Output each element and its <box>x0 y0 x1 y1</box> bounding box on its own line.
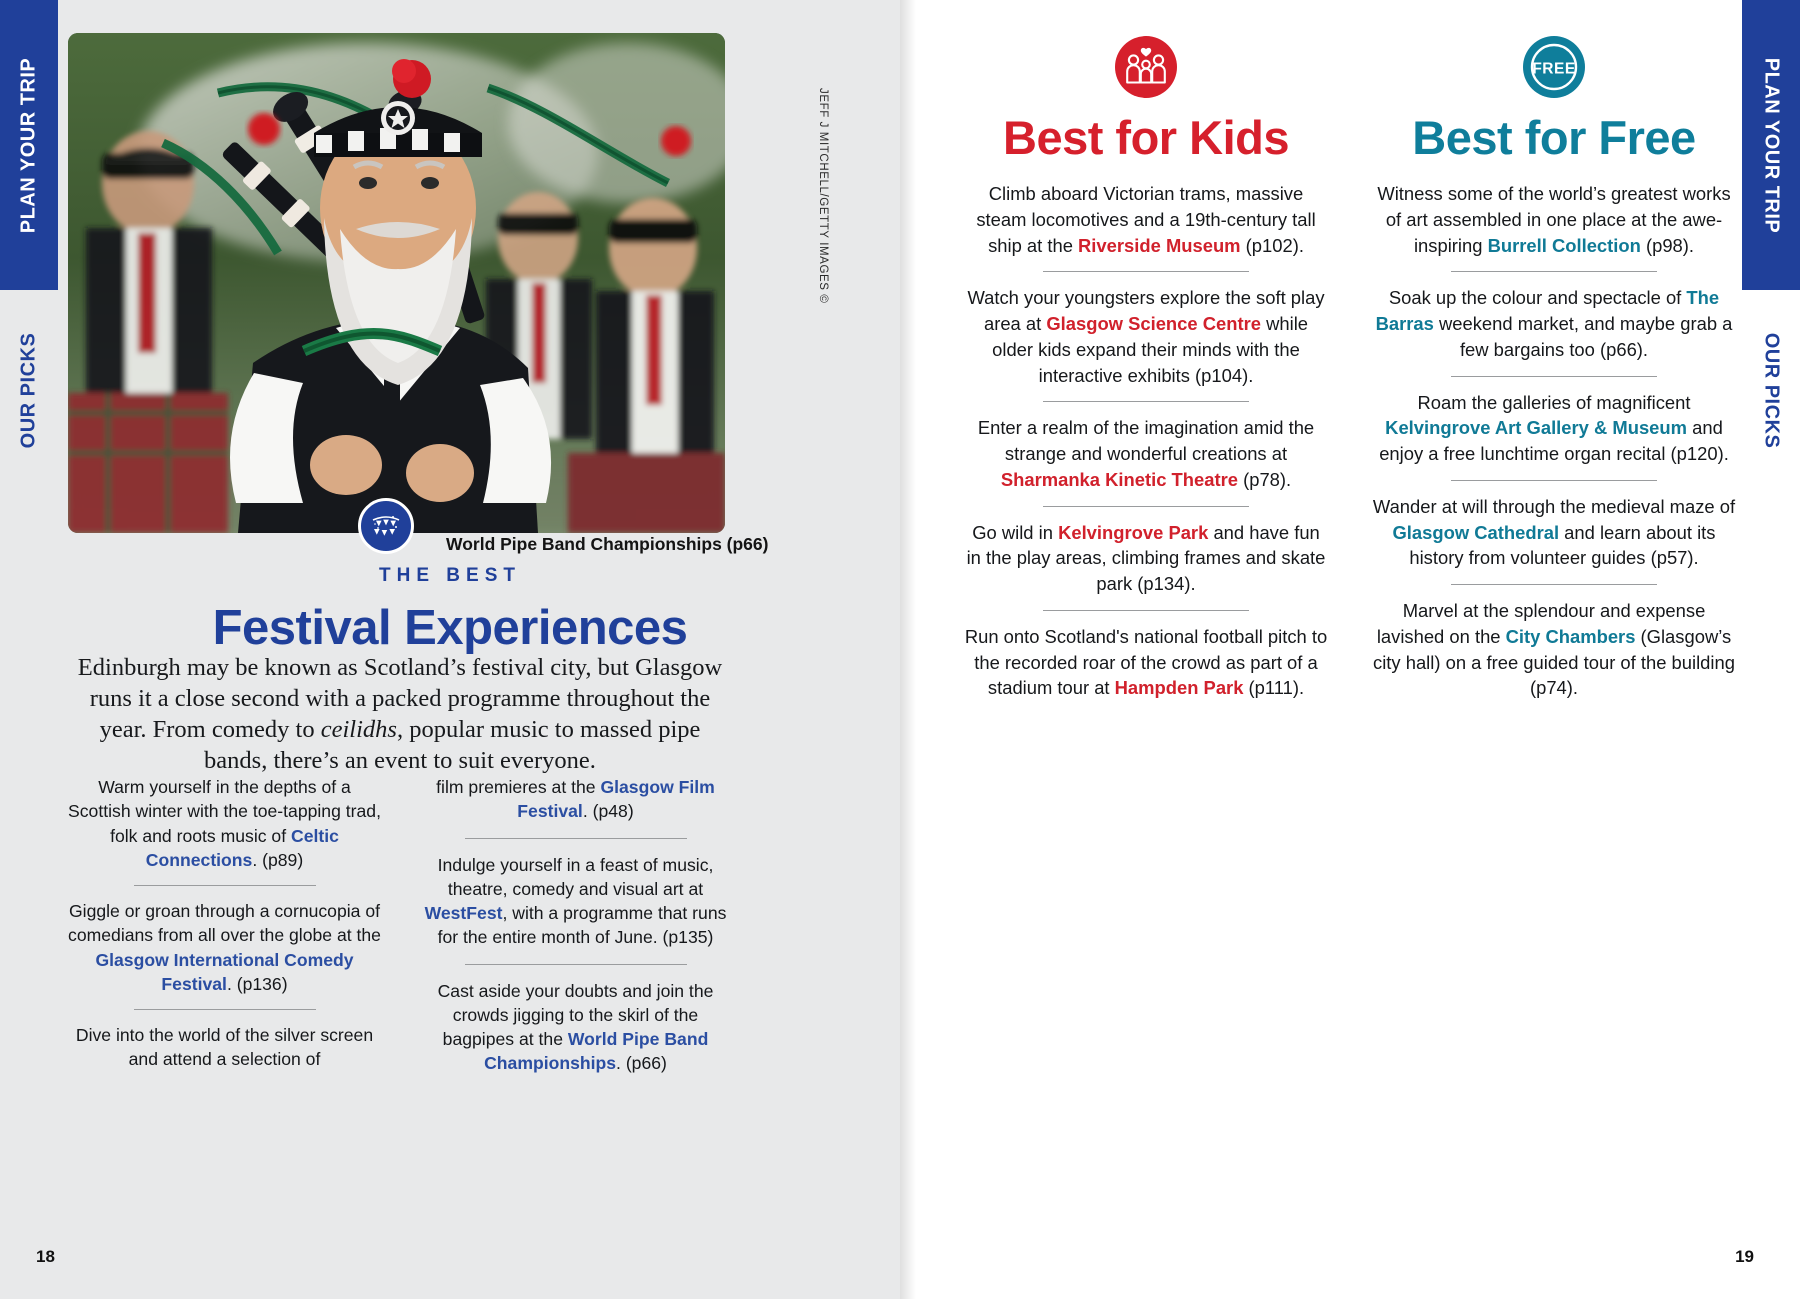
entry-divider <box>1043 506 1249 507</box>
entry-divider <box>1043 271 1249 272</box>
book-spread: PLAN YOUR TRIP OUR PICKS <box>0 0 1800 1299</box>
entry-divider <box>1451 271 1657 272</box>
pick-entry-highlight[interactable]: The Barras <box>1376 287 1720 334</box>
family-heart-icon-glyph <box>1113 34 1179 100</box>
photo-credit: JEFF J MITCHELL/GETTY IMAGES © <box>817 88 829 303</box>
page-number-left: 18 <box>36 1247 55 1267</box>
pick-entry-highlight[interactable]: Kelvingrove Art Gallery & Museum <box>1385 417 1687 438</box>
sidebar-tab-label: OUR PICKS <box>18 332 41 448</box>
pick-entry-highlight[interactable]: Glasgow Cathedral <box>1392 522 1559 543</box>
picks-column-one: Warm yourself in the depths of a Scottis… <box>68 775 381 1076</box>
pick-entry: Dive into the world of the silver screen… <box>68 1023 381 1072</box>
pick-entry-highlight[interactable]: Celtic Connections <box>146 826 339 870</box>
pick-entry: Watch your youngsters explore the soft p… <box>964 285 1328 388</box>
picks-column-two: film premieres at the Glasgow Film Festi… <box>419 775 732 1076</box>
page-title: Festival Experiences <box>0 600 900 656</box>
sidebar-tab-our-picks-right[interactable]: OUR PICKS <box>1742 290 1800 490</box>
pick-entry-highlight[interactable]: Glasgow Film Festival <box>517 777 715 821</box>
entry-divider <box>1451 584 1657 585</box>
sidebar-tab-label: OUR PICKS <box>1760 332 1783 448</box>
entry-divider <box>1451 376 1657 377</box>
sidebar-tab-plan-your-trip-left[interactable]: PLAN YOUR TRIP <box>0 0 58 290</box>
section-kicker: THE BEST <box>0 565 900 587</box>
best-for-free-title: Best for Free <box>1372 110 1736 165</box>
pick-entry: film premieres at the Glasgow Film Festi… <box>419 775 732 824</box>
entry-divider <box>1451 480 1657 481</box>
family-heart-icon <box>964 34 1328 100</box>
sidebar-tab-label: PLAN YOUR TRIP <box>1760 57 1783 233</box>
sidebar-tab-our-picks-left[interactable]: OUR PICKS <box>0 290 58 490</box>
pick-entry-highlight[interactable]: Burrell Collection <box>1488 235 1641 256</box>
svg-text:FREE: FREE <box>1532 60 1575 77</box>
pick-entry: Indulge yourself in a feast of music, th… <box>419 853 732 950</box>
entry-divider <box>1043 610 1249 611</box>
pick-entry-highlight[interactable]: Riverside Museum <box>1078 235 1241 256</box>
entry-divider <box>134 1009 316 1010</box>
bunting-badge-icon <box>358 498 414 554</box>
hero-photo-pipe-band <box>68 33 725 533</box>
entry-divider <box>1043 401 1249 402</box>
intro-italic-term: ceilidhs <box>321 716 397 743</box>
best-for-columns: Best for Kids Climb aboard Victorian tra… <box>964 34 1736 701</box>
entry-divider <box>134 885 316 886</box>
bunting-icon-glyph <box>369 509 403 543</box>
best-for-free-column: FREE Best for Free Witness some of the w… <box>1372 34 1736 701</box>
pick-entry: Climb aboard Victorian trams, massive st… <box>964 181 1328 258</box>
pick-entry-highlight[interactable]: Hampden Park <box>1115 677 1244 698</box>
pick-entry-highlight[interactable]: World Pipe Band Championships <box>484 1029 708 1073</box>
pick-entry: Wander at will through the medieval maze… <box>1372 494 1736 571</box>
pipe-band-photo-illustration <box>68 33 725 533</box>
pick-entry: Warm yourself in the depths of a Scottis… <box>68 775 381 872</box>
best-for-kids-entries: Climb aboard Victorian trams, massive st… <box>964 181 1328 701</box>
pick-entry: Run onto Scotland's national football pi… <box>964 624 1328 701</box>
picks-columns-left-page: Warm yourself in the depths of a Scottis… <box>68 775 732 1076</box>
entry-divider <box>465 838 687 839</box>
pick-entry: Marvel at the splendour and expense lavi… <box>1372 598 1736 701</box>
free-badge-icon: FREE <box>1372 34 1736 100</box>
left-page: PLAN YOUR TRIP OUR PICKS <box>0 0 900 1299</box>
pick-entry: Roam the galleries of magnificent Kelvin… <box>1372 390 1736 467</box>
free-badge-icon-glyph: FREE <box>1521 34 1587 100</box>
best-for-free-entries: Witness some of the world’s greatest wor… <box>1372 181 1736 701</box>
pick-entry: Witness some of the world’s greatest wor… <box>1372 181 1736 258</box>
best-for-kids-column: Best for Kids Climb aboard Victorian tra… <box>964 34 1328 701</box>
photo-caption: World Pipe Band Championships (p66) <box>446 534 768 555</box>
best-for-kids-title: Best for Kids <box>964 110 1328 165</box>
pick-entry-highlight[interactable]: Glasgow International Comedy Festival <box>95 950 353 994</box>
pick-entry: Cast aside your doubts and join the crow… <box>419 979 732 1076</box>
pick-entry-highlight[interactable]: City Chambers <box>1506 626 1636 647</box>
pick-entry: Enter a realm of the imagination amid th… <box>964 415 1328 492</box>
pick-entry: Soak up the colour and spectacle of The … <box>1372 285 1736 362</box>
page-number-right: 19 <box>1735 1247 1754 1267</box>
pick-entry-highlight[interactable]: Kelvingrove Park <box>1058 522 1208 543</box>
pick-entry: Go wild in Kelvingrove Park and have fun… <box>964 520 1328 597</box>
intro-paragraph: Edinburgh may be known as Scotland’s fes… <box>70 652 730 776</box>
sidebar-tab-plan-your-trip-right[interactable]: PLAN YOUR TRIP <box>1742 0 1800 290</box>
pick-entry-highlight[interactable]: WestFest <box>425 903 503 923</box>
pick-entry-highlight[interactable]: Sharmanka Kinetic Theatre <box>1001 469 1238 490</box>
right-page: PLAN YOUR TRIP OUR PICKS <box>900 0 1800 1299</box>
pick-entry: Giggle or groan through a cornucopia of … <box>68 899 381 996</box>
entry-divider <box>465 964 687 965</box>
sidebar-tab-label: PLAN YOUR TRIP <box>18 57 41 233</box>
pick-entry-highlight[interactable]: Glasgow Science Centre <box>1046 313 1261 334</box>
